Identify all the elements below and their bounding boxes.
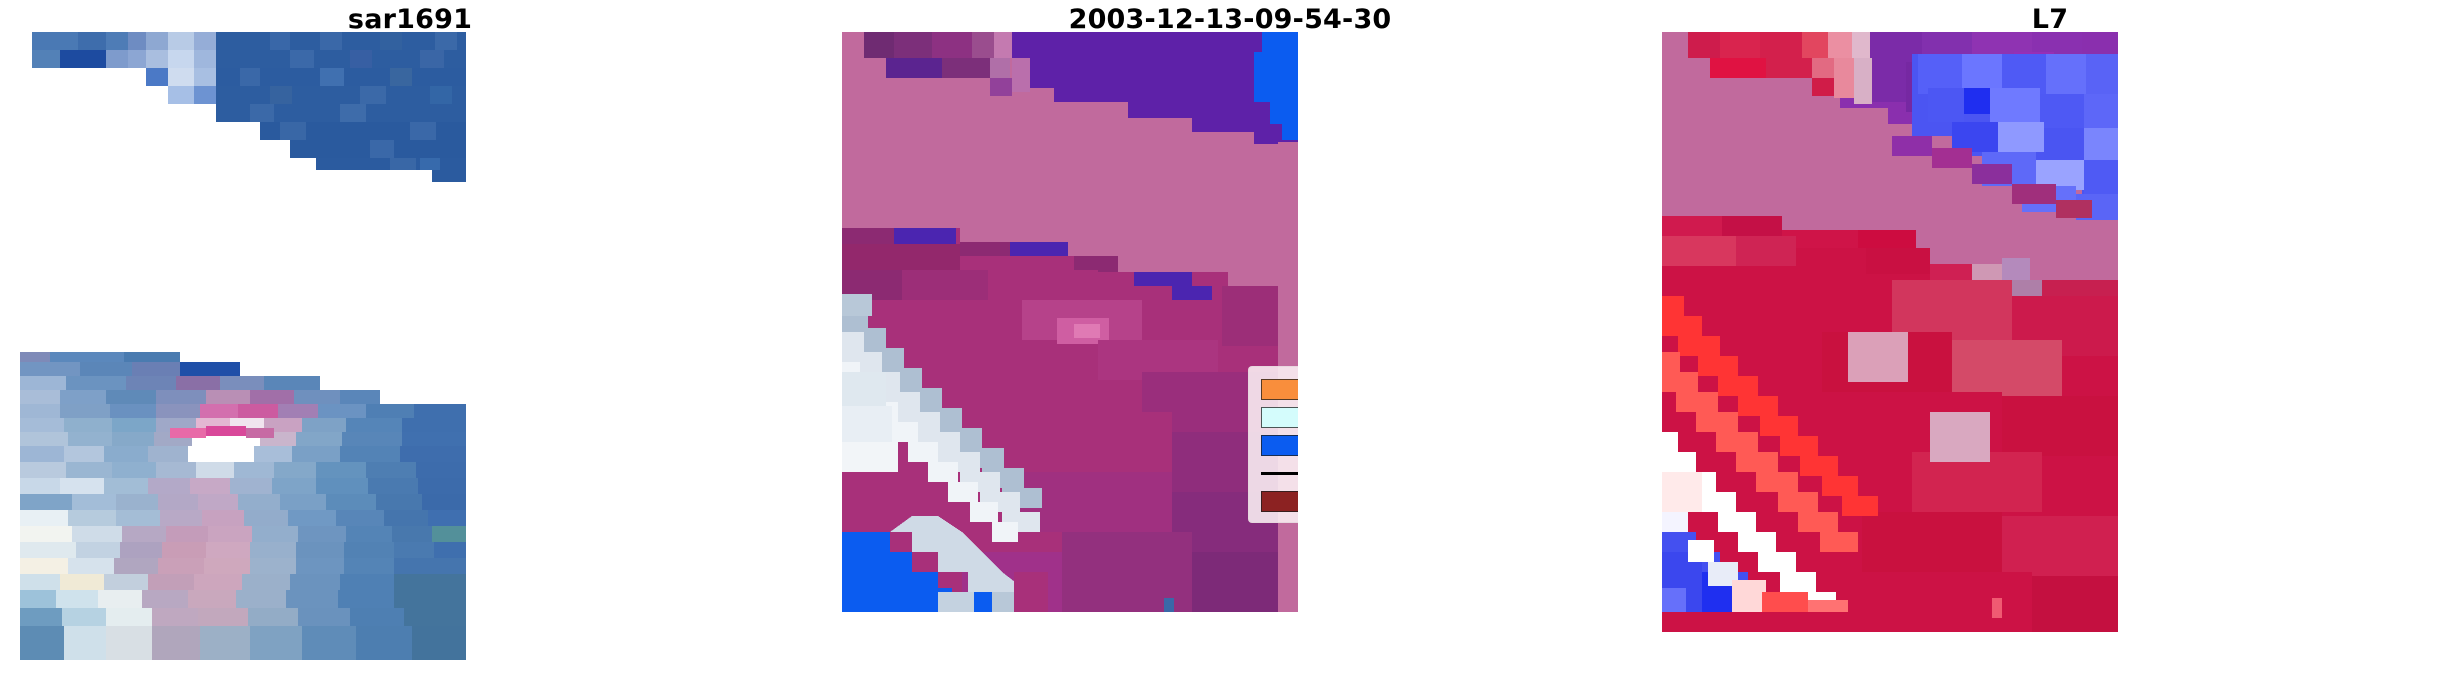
- axes-1: [20, 32, 466, 660]
- axes-2: sand whitewater water shoreline referenc…: [842, 32, 1298, 660]
- legend-item-whitewater[interactable]: whitewater: [1261, 403, 1298, 431]
- sand-swatch: [1261, 379, 1298, 400]
- false-colour-raster-3: [1662, 32, 2118, 660]
- legend-item-water[interactable]: water: [1261, 431, 1298, 459]
- panel-title-3: L7: [1640, 6, 2460, 34]
- axes-3: [1662, 32, 2118, 660]
- whitewater-swatch: [1261, 407, 1298, 428]
- classified-raster-2: [842, 32, 1298, 660]
- legend: sand whitewater water shoreline referenc…: [1248, 366, 1298, 523]
- panel-title-1: sar1691: [0, 6, 820, 34]
- water-swatch: [1261, 435, 1298, 456]
- figure-canvas: sar1691: [0, 0, 2460, 686]
- legend-item-reference-buffer[interactable]: reference shoreline buffer: [1261, 487, 1298, 515]
- panel-title-2: 2003-12-13-09-54-30: [820, 6, 1640, 34]
- reference-shoreline-buffer-swatch: [1261, 491, 1298, 512]
- satellite-raster-1: [20, 32, 466, 660]
- panel-l7: L7: [1640, 0, 2460, 686]
- panel-sar1691: sar1691: [0, 0, 820, 686]
- legend-item-sand[interactable]: sand: [1261, 375, 1298, 403]
- panel-classified: 2003-12-13-09-54-30: [820, 0, 1640, 686]
- shoreline-line-swatch: [1261, 463, 1298, 484]
- legend-item-shoreline[interactable]: shoreline: [1261, 459, 1298, 487]
